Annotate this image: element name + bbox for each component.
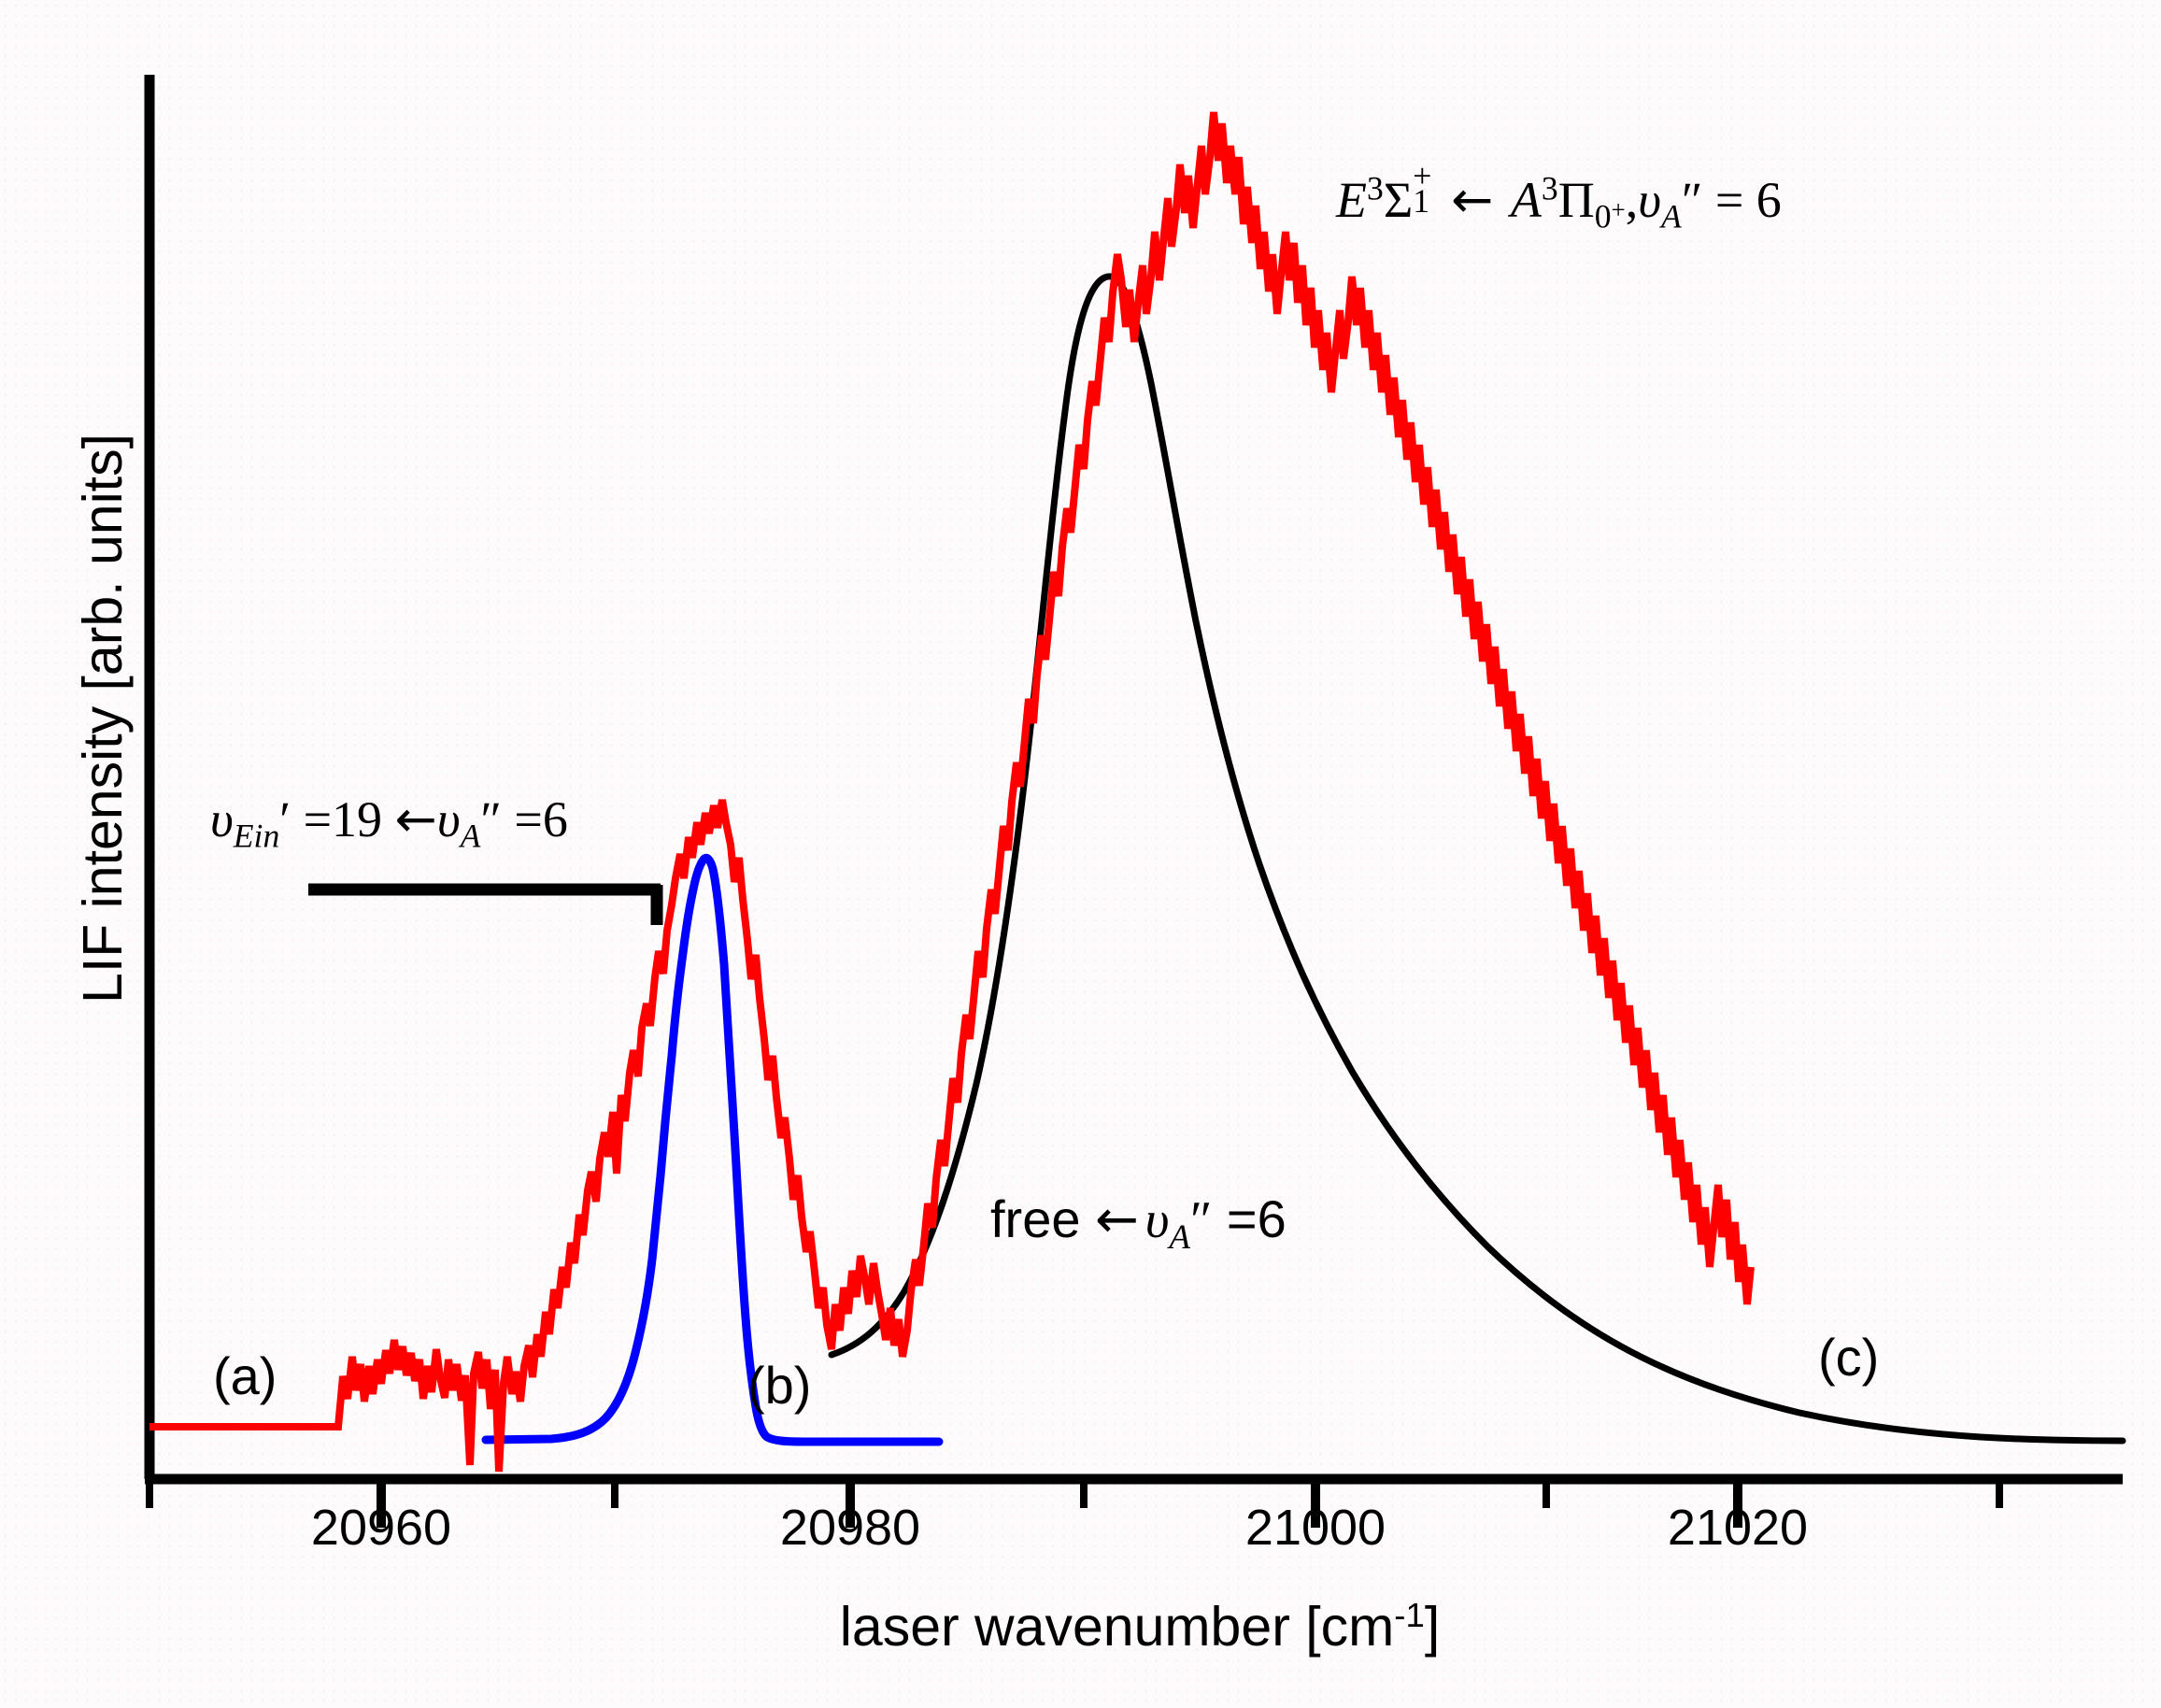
ann-vib-lower-value: =6 [502,791,568,847]
x-axis-label-text: laser wavenumber [cm [840,1596,1395,1658]
x-tick-label-21020: 21020 [1668,1499,1808,1557]
ann-vib-upper-value: =19 [291,791,394,847]
ann-top-E: E [1336,172,1367,228]
annotation-vibrational-assignment: υEin′ =19 ←υA″ =6 [210,790,568,855]
assignment-bracket [308,885,661,925]
ann-top-A: A [1511,172,1542,228]
x-axis-label-bracket: ] [1425,1596,1440,1658]
figure-canvas: LIF intensity [arb. units] laser wavenum… [0,0,2161,1708]
series-b-bound-bound-curve [486,858,939,1442]
y-axis-label: LIF intensity [arb. units] [71,326,135,1111]
series-c-bound-free-curve [832,277,2123,1441]
ann-top-A-multiplicity: 3 [1542,169,1558,206]
ann-free-upsilon-state: A [1169,1217,1190,1256]
ann-top-upsilon-state: A [1661,197,1682,235]
ann-vib-upsilon-state: Ein [234,817,279,854]
ann-top-value: = 6 [1702,172,1781,228]
x-axis-label-exponent: -1 [1394,1596,1425,1634]
ann-top-comma: , [1626,172,1639,228]
ann-top-E-multiplicity: 3 [1367,169,1384,206]
ann-top-arrow: ← [1434,170,1511,229]
x-tick-label-20960: 20960 [311,1499,451,1557]
ann-vib-arrow: ← [395,790,437,848]
x-tick-label-20980: 20980 [780,1499,920,1557]
ann-top-double-prime: ″ [1682,172,1703,228]
axis-lines [145,75,2123,1479]
ann-free-word: free [990,1189,1095,1248]
ann-top-pi-parity: + [1612,195,1626,223]
annotation-top-transition: E3Σ+1←A3Π0+,υA″ = 6 [1336,166,1782,235]
ann-vib-upsilon-lower-state: A [461,817,481,854]
ann-vib-prime: ′ [279,791,291,847]
annotation-free-transition: free ←υA″ =6 [990,1188,1287,1257]
panel-label-a: (a) [213,1345,277,1406]
ann-vib-double-prime: ″ [480,791,502,847]
ann-vib-upsilon-lower: υ [437,791,461,847]
panel-label-c: (c) [1818,1327,1879,1388]
ann-top-sigma-omega: 1 [1413,181,1429,221]
ann-top-sigma: Σ [1384,172,1413,228]
ann-top-pi-omega: 0 [1595,197,1612,235]
ann-top-upsilon: υ [1638,172,1661,228]
x-axis-label: laser wavenumber [cm-1] [149,1595,2130,1658]
ann-free-value: =6 [1212,1189,1286,1248]
ann-free-double-prime: ″ [1190,1191,1212,1249]
ann-vib-upsilon: υ [210,791,234,847]
panel-label-b: (b) [747,1355,811,1416]
ann-free-arrow: ← [1095,1189,1139,1250]
ann-free-upsilon: υ [1139,1191,1169,1249]
ann-top-pi: Π [1558,172,1595,228]
x-tick-label-21000: 21000 [1245,1499,1386,1557]
